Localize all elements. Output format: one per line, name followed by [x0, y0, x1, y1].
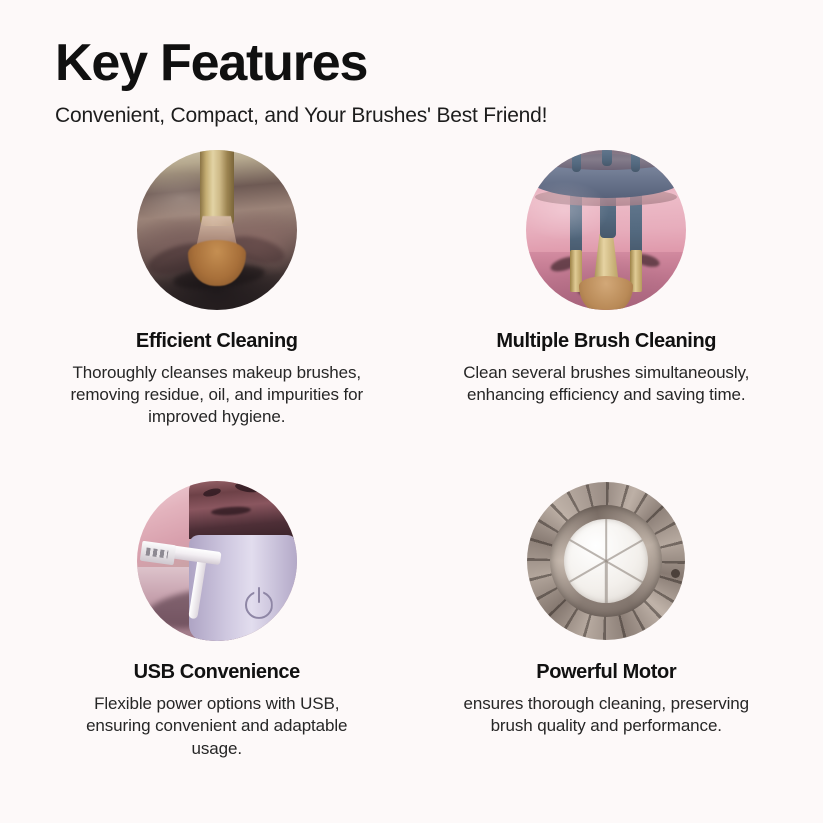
page-header: Key Features Convenient, Compact, and Yo…	[0, 0, 823, 128]
key-features-page: Key Features Convenient, Compact, and Yo…	[0, 0, 823, 823]
brush-in-murky-water-image	[137, 150, 297, 310]
power-button-icon-bar	[258, 587, 261, 603]
feature-title: Powerful Motor	[536, 661, 676, 684]
hub-spoke	[605, 519, 607, 561]
page-title: Key Features	[55, 36, 823, 91]
grid-row-spacer	[22, 429, 801, 481]
page-subtitle: Convenient, Compact, and Your Brushes' B…	[55, 104, 823, 128]
feature-description: Thoroughly cleanses makeup brushes, remo…	[67, 362, 367, 429]
multiple-brushes-image	[526, 150, 686, 310]
motor-hub	[564, 519, 648, 603]
feature-title: Multiple Brush Cleaning	[496, 330, 716, 353]
hub-spoke	[605, 561, 607, 603]
usb-cable-and-device-image	[137, 481, 297, 641]
hub-spoke	[606, 539, 644, 562]
feature-card-powerful-motor: Powerful Motor ensures thorough cleaning…	[412, 481, 802, 760]
hub-spoke	[569, 560, 607, 583]
feature-description: Clean several brushes simultaneously, en…	[456, 362, 756, 407]
feature-title: Efficient Cleaning	[136, 330, 298, 353]
brush-handle	[200, 150, 234, 226]
features-grid: Efficient Cleaning Thoroughly cleanses m…	[0, 150, 823, 761]
feature-description: ensures thorough cleaning, preserving br…	[456, 693, 756, 738]
feature-title: USB Convenience	[134, 661, 300, 684]
feature-card-efficient-cleaning: Efficient Cleaning Thoroughly cleanses m…	[22, 150, 412, 429]
feature-description: Flexible power options with USB, ensurin…	[67, 693, 367, 760]
motor-rotor-image	[526, 481, 686, 641]
feature-card-multiple-brush-cleaning: Multiple Brush Cleaning Clean several br…	[412, 150, 802, 429]
feature-card-usb-convenience: USB Convenience Flexible power options w…	[22, 481, 412, 760]
hub-spoke	[569, 539, 607, 562]
hub-spoke	[606, 560, 644, 583]
image-highlight	[526, 150, 686, 310]
